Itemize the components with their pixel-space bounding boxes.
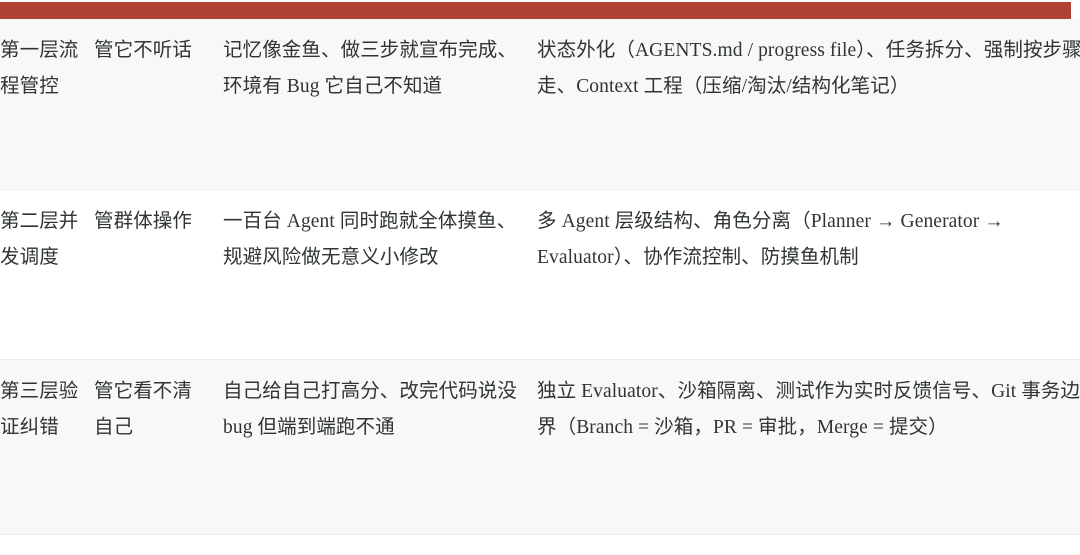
- symptom-label: 一百台 Agent 同时跑就全体摸鱼、规避风险做无意义小修改: [223, 204, 523, 276]
- layer-label: 第三层验证纠错: [0, 374, 80, 446]
- cell-symptom: 自己给自己打高分、改完代码说没 bug 但端到端跑不通: [223, 359, 537, 534]
- cell-solution: 状态外化（AGENTS.md / progress file）、任务拆分、强制按…: [537, 19, 1080, 189]
- cell-symptom: 一百台 Agent 同时跑就全体摸鱼、规避风险做无意义小修改: [223, 189, 537, 359]
- table-body: 第一层流程管控 管它不听话 记忆像金鱼、做三步就宣布完成、环境有 Bug 它自己…: [0, 19, 1080, 534]
- cell-solution: 独立 Evaluator、沙箱隔离、测试作为实时反馈信号、Git 事务边界（Br…: [537, 359, 1080, 534]
- symptom-label: 记忆像金鱼、做三步就宣布完成、环境有 Bug 它自己不知道: [223, 33, 523, 105]
- solution-label: 独立 Evaluator、沙箱隔离、测试作为实时反馈信号、Git 事务边界（Br…: [537, 374, 1080, 446]
- table-row: 第一层流程管控 管它不听话 记忆像金鱼、做三步就宣布完成、环境有 Bug 它自己…: [0, 19, 1080, 189]
- document-page: 第一层流程管控 管它不听话 记忆像金鱼、做三步就宣布完成、环境有 Bug 它自己…: [0, 0, 1080, 555]
- layer-label: 第二层并发调度: [0, 204, 80, 276]
- cell-layer: 第三层验证纠错: [0, 359, 94, 534]
- layer-label: 第一层流程管控: [0, 33, 80, 105]
- cell-layer: 第二层并发调度: [0, 189, 94, 359]
- problem-label: 管它不听话: [94, 33, 209, 69]
- table-row: 第二层并发调度 管群体操作 一百台 Agent 同时跑就全体摸鱼、规避风险做无意…: [0, 189, 1080, 359]
- solution-label: 状态外化（AGENTS.md / progress file）、任务拆分、强制按…: [537, 33, 1080, 105]
- problem-label: 管群体操作: [94, 204, 209, 240]
- solution-label: 多 Agent 层级结构、角色分离（Planner → Generator → …: [537, 204, 1080, 276]
- header-accent-bar: [0, 2, 1071, 19]
- cell-symptom: 记忆像金鱼、做三步就宣布完成、环境有 Bug 它自己不知道: [223, 19, 537, 189]
- cell-solution: 多 Agent 层级结构、角色分离（Planner → Generator → …: [537, 189, 1080, 359]
- cell-problem: 管它看不清自己: [94, 359, 223, 534]
- cell-problem: 管群体操作: [94, 189, 223, 359]
- table-row: 第三层验证纠错 管它看不清自己 自己给自己打高分、改完代码说没 bug 但端到端…: [0, 359, 1080, 534]
- symptom-label: 自己给自己打高分、改完代码说没 bug 但端到端跑不通: [223, 374, 523, 446]
- agent-layers-table: 第一层流程管控 管它不听话 记忆像金鱼、做三步就宣布完成、环境有 Bug 它自己…: [0, 19, 1080, 535]
- cell-problem: 管它不听话: [94, 19, 223, 189]
- cell-layer: 第一层流程管控: [0, 19, 94, 189]
- problem-label: 管它看不清自己: [94, 374, 209, 446]
